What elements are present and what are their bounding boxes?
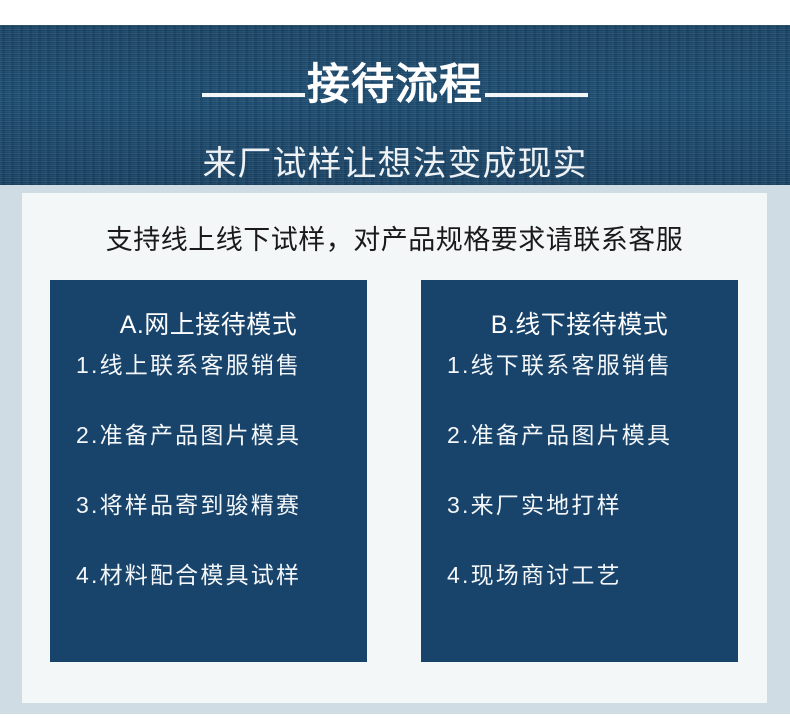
card-steps-offline: 1.线下联系客服销售 2.准备产品图片模具 3.来厂实地打样 4.现场商讨工艺 <box>421 354 738 587</box>
reception-mode-cards: A.网上接待模式 1.线上联系客服销售 2.准备产品图片模具 3.将样品寄到骏精… <box>50 280 738 662</box>
title-rule-left-icon <box>202 93 305 97</box>
page-subtitle: 来厂试样让想法变成现实 <box>0 143 790 185</box>
header-banner: 接待流程 来厂试样让想法变成现实 <box>0 25 790 185</box>
panel-lead-text: 支持线上线下试样，对产品规格要求请联系客服 <box>22 218 767 257</box>
list-item: 4.现场商讨工艺 <box>447 564 738 587</box>
reception-mode-card-online: A.网上接待模式 1.线上联系客服销售 2.准备产品图片模具 3.将样品寄到骏精… <box>50 280 367 662</box>
title-rule-right-icon <box>485 93 588 97</box>
card-title-offline: B.线下接待模式 <box>421 310 738 340</box>
reception-mode-card-offline: B.线下接待模式 1.线下联系客服销售 2.准备产品图片模具 3.来厂实地打样 … <box>421 280 738 662</box>
card-title-online: A.网上接待模式 <box>50 310 367 340</box>
list-item: 1.线下联系客服销售 <box>447 354 738 377</box>
list-item: 3.来厂实地打样 <box>447 494 738 517</box>
card-steps-online: 1.线上联系客服销售 2.准备产品图片模具 3.将样品寄到骏精赛 4.材料配合模… <box>50 354 367 587</box>
list-item: 4.材料配合模具试样 <box>76 564 367 587</box>
list-item: 1.线上联系客服销售 <box>76 354 367 377</box>
list-item: 2.准备产品图片模具 <box>447 424 738 447</box>
content-panel: 支持线上线下试样，对产品规格要求请联系客服 A.网上接待模式 1.线上联系客服销… <box>22 193 767 703</box>
page-title: 接待流程 <box>305 64 485 107</box>
list-item: 3.将样品寄到骏精赛 <box>76 494 367 517</box>
banner-title-row: 接待流程 <box>0 73 790 116</box>
reception-process-page: 接待流程 来厂试样让想法变成现实 支持线上线下试样，对产品规格要求请联系客服 A… <box>0 0 790 718</box>
list-item: 2.准备产品图片模具 <box>76 424 367 447</box>
